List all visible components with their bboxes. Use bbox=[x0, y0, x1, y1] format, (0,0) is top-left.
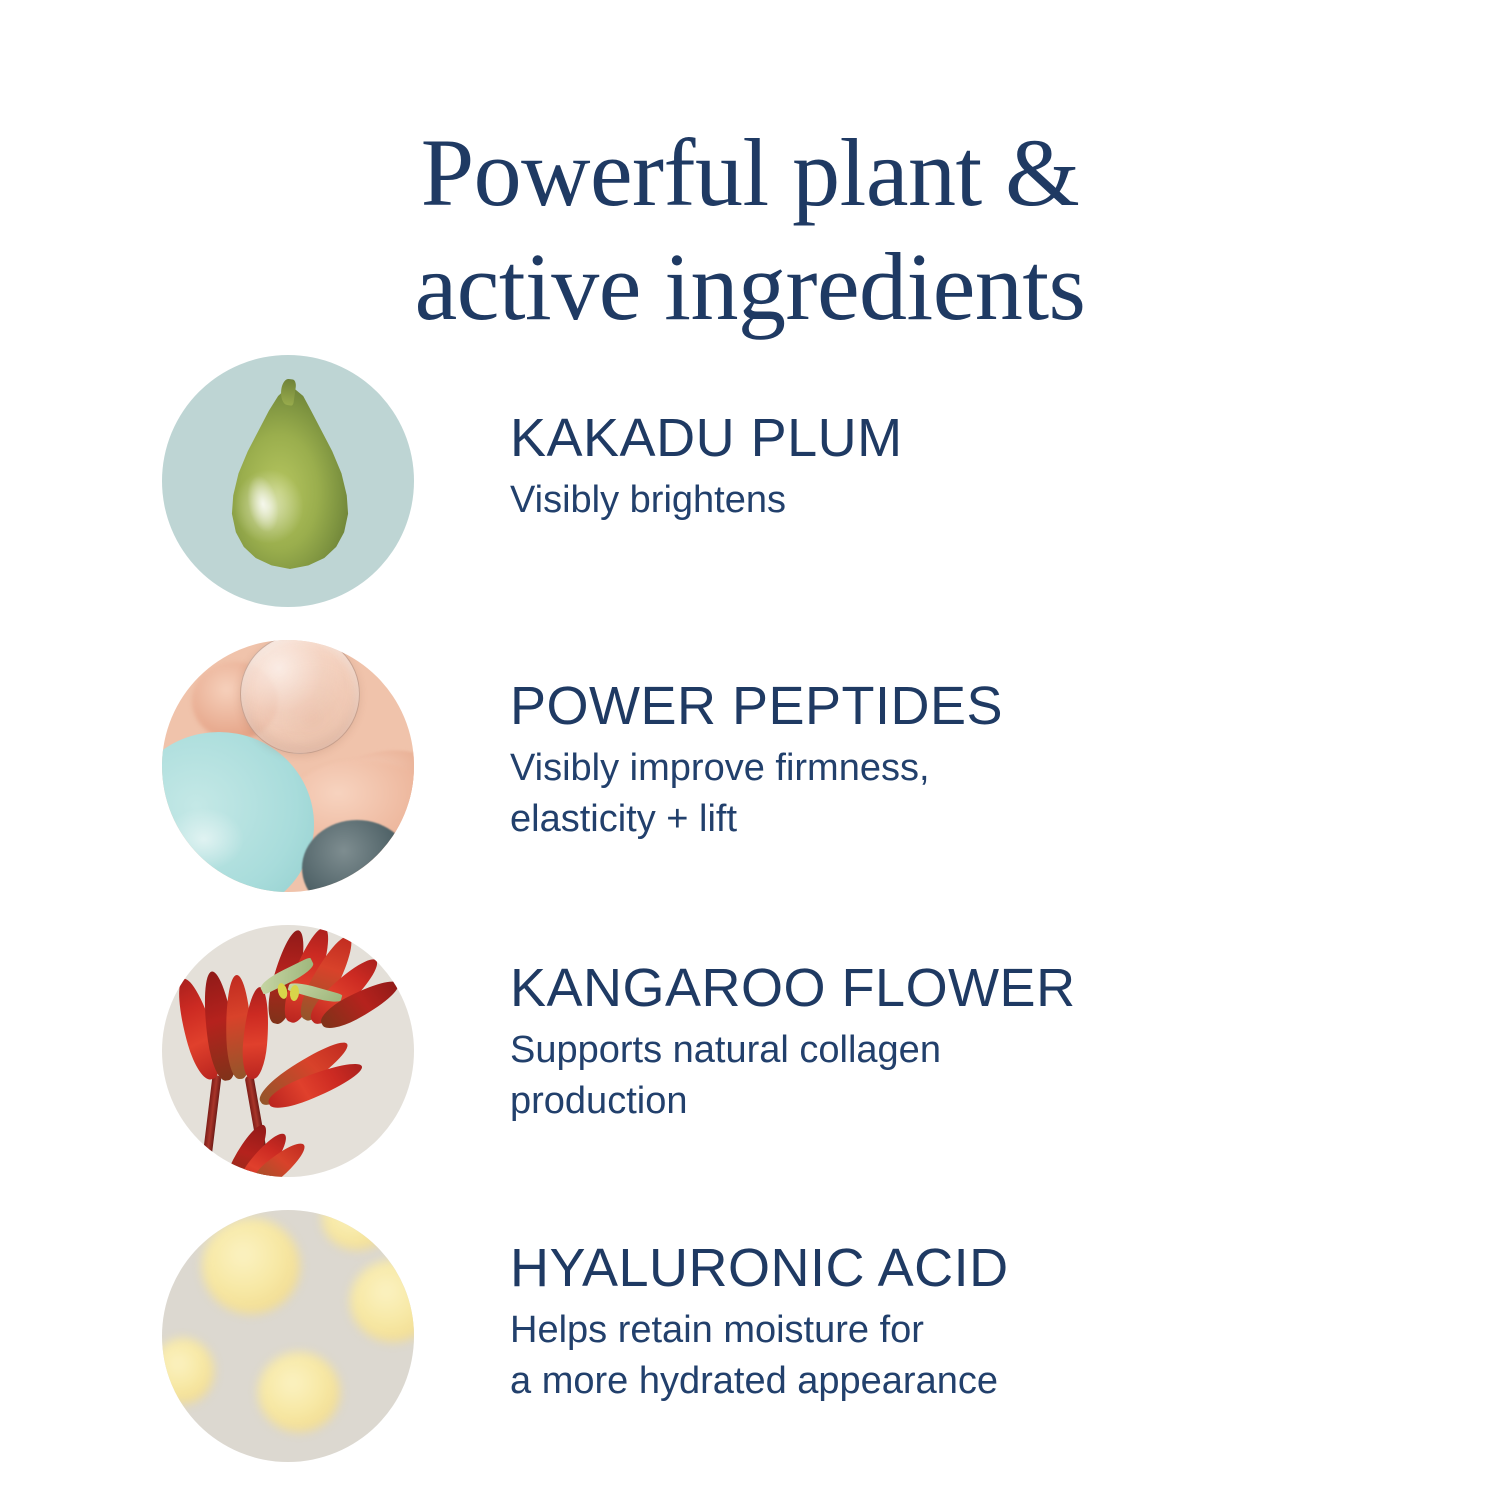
ingredient-description: Visibly brightens bbox=[510, 475, 1390, 526]
ingredient-name: KANGAROO FLOWER bbox=[510, 960, 1390, 1016]
page-title: Powerful plant & active ingredients bbox=[0, 116, 1500, 343]
description-line: Helps retain moisture for bbox=[510, 1305, 1390, 1356]
flower-stem-shape bbox=[199, 1075, 221, 1177]
list-item: KANGAROO FLOWER Supports natural collage… bbox=[0, 925, 1500, 1210]
mint-blob-shape bbox=[162, 732, 314, 892]
kangaroo-paw-flower-image bbox=[162, 925, 414, 1177]
ingredient-name: HYALURONIC ACID bbox=[510, 1240, 1390, 1296]
kangaroo-flower-artwork bbox=[162, 925, 414, 1177]
hyaluronic-artwork bbox=[162, 1210, 414, 1462]
droplet-shape bbox=[322, 1210, 392, 1250]
hyaluronic-droplets-image bbox=[162, 1210, 414, 1462]
plum-body-shape bbox=[224, 385, 356, 569]
description-line: a more hydrated appearance bbox=[510, 1356, 1390, 1407]
ingredient-description: Supports natural collagen production bbox=[510, 1025, 1390, 1127]
ingredient-text-block: POWER PEPTIDES Visibly improve firmness,… bbox=[510, 678, 1390, 845]
droplet-shape bbox=[162, 1338, 214, 1404]
page-title-line-2: active ingredients bbox=[0, 230, 1500, 343]
plum-artwork bbox=[162, 355, 414, 607]
peptide-spheres-image bbox=[162, 640, 414, 892]
list-item: POWER PEPTIDES Visibly improve firmness,… bbox=[0, 640, 1500, 925]
droplet-shape bbox=[202, 1218, 300, 1314]
description-line: production bbox=[510, 1076, 1390, 1127]
description-line: elasticity + lift bbox=[510, 794, 1390, 845]
ingredient-text-block: KANGAROO FLOWER Supports natural collage… bbox=[510, 960, 1390, 1127]
ingredient-text-block: HYALURONIC ACID Helps retain moisture fo… bbox=[510, 1240, 1390, 1407]
description-line: Visibly brightens bbox=[510, 475, 1390, 526]
droplet-shape bbox=[258, 1352, 340, 1432]
ingredient-list: KAKADU PLUM Visibly brightens POWER bbox=[0, 355, 1500, 1495]
droplet-shape bbox=[350, 1260, 414, 1342]
list-item: HYALURONIC ACID Helps retain moisture fo… bbox=[0, 1210, 1500, 1495]
ingredient-name: KAKADU PLUM bbox=[510, 410, 1390, 466]
peptide-artwork bbox=[162, 640, 414, 892]
list-item: KAKADU PLUM Visibly brightens bbox=[0, 355, 1500, 640]
translucent-sphere-shape bbox=[240, 640, 360, 754]
ingredient-description: Visibly improve firmness, elasticity + l… bbox=[510, 743, 1390, 845]
ingredients-infographic: Powerful plant & active ingredients KAKA… bbox=[0, 0, 1500, 1500]
description-line: Visibly improve firmness, bbox=[510, 743, 1390, 794]
ingredient-description: Helps retain moisture for a more hydrate… bbox=[510, 1305, 1390, 1407]
kakadu-plum-fruit-image bbox=[162, 355, 414, 607]
description-line: Supports natural collagen bbox=[510, 1025, 1390, 1076]
page-title-line-1: Powerful plant & bbox=[0, 116, 1500, 229]
ingredient-name: POWER PEPTIDES bbox=[510, 678, 1390, 734]
ingredient-text-block: KAKADU PLUM Visibly brightens bbox=[510, 410, 1390, 526]
